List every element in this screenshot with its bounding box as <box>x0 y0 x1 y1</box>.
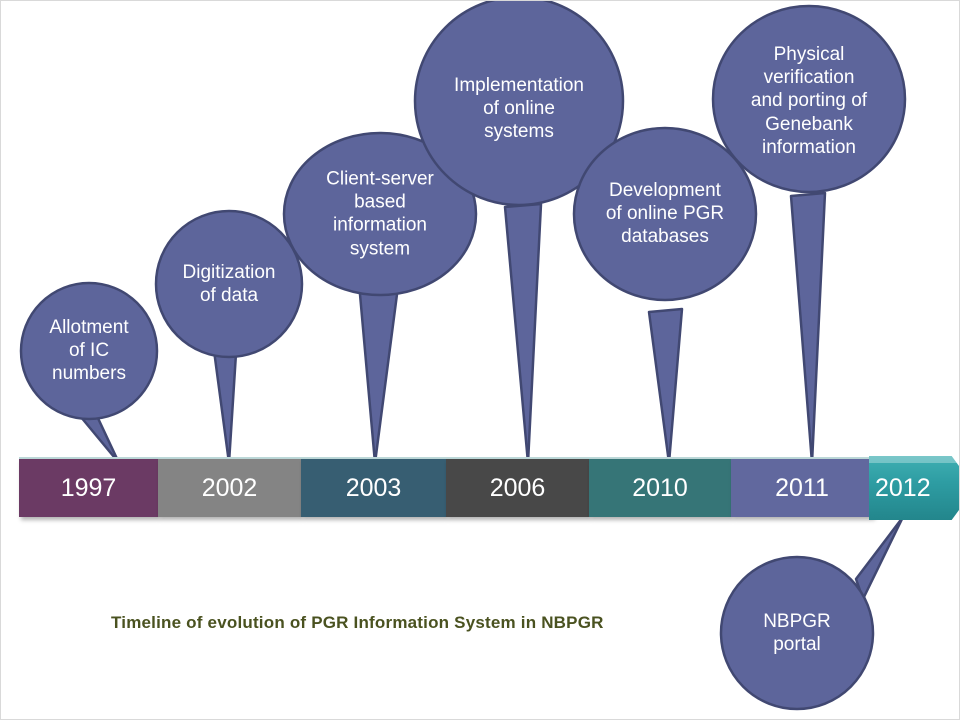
timeline-segment-2006[interactable]: 2006 <box>446 459 589 517</box>
callout-bubble-2003[interactable] <box>284 133 476 463</box>
callout-bubble-2010[interactable] <box>574 128 756 463</box>
callout-bubble-2006[interactable] <box>415 1 623 463</box>
timeline-year-2010: 2010 <box>632 474 688 503</box>
callout-label-2002: Digitization of data <box>159 261 299 307</box>
timeline-year-2002: 2002 <box>202 474 258 503</box>
timeline-segment-2002[interactable]: 2002 <box>158 459 301 517</box>
timeline-year-2003: 2003 <box>346 474 402 503</box>
timeline-diagram: Allotment of IC numbers Digitization of … <box>0 0 960 720</box>
timeline-segment-2010[interactable]: 2010 <box>589 459 731 517</box>
diagram-caption: Timeline of evolution of PGR Information… <box>111 613 604 633</box>
arrow-bevel-highlight <box>869 456 960 463</box>
callout-label-2006: Implementation of online systems <box>425 74 613 144</box>
callout-bubble-2011[interactable] <box>713 6 905 463</box>
timeline-year-2012: 2012 <box>875 474 931 503</box>
timeline-segment-2012[interactable]: 2012 <box>869 456 960 520</box>
timeline-segment-2003[interactable]: 2003 <box>301 459 446 517</box>
timeline-segment-1997[interactable]: 1997 <box>19 459 158 517</box>
timeline-segment-2011[interactable]: 2011 <box>731 459 873 517</box>
callout-label-2003: Client-server based information system <box>294 168 466 261</box>
callout-label-2010: Development of online PGR databases <box>582 179 748 249</box>
callout-bubble-2012[interactable] <box>721 517 903 709</box>
timeline-bar: 1997 2002 2003 2006 2010 2011 2012 <box>19 459 943 533</box>
timeline-year-1997: 1997 <box>61 474 117 503</box>
timeline-year-2011: 2011 <box>775 474 829 503</box>
callout-bubble-2002[interactable] <box>156 211 302 463</box>
callout-label-1997: Allotment of IC numbers <box>25 316 153 386</box>
callout-label-2012: NBPGR portal <box>727 610 867 656</box>
callout-label-2011: Physical verification and porting of Gen… <box>724 43 894 159</box>
callout-bubble-1997[interactable] <box>21 283 157 463</box>
timeline-year-2006: 2006 <box>490 474 546 503</box>
